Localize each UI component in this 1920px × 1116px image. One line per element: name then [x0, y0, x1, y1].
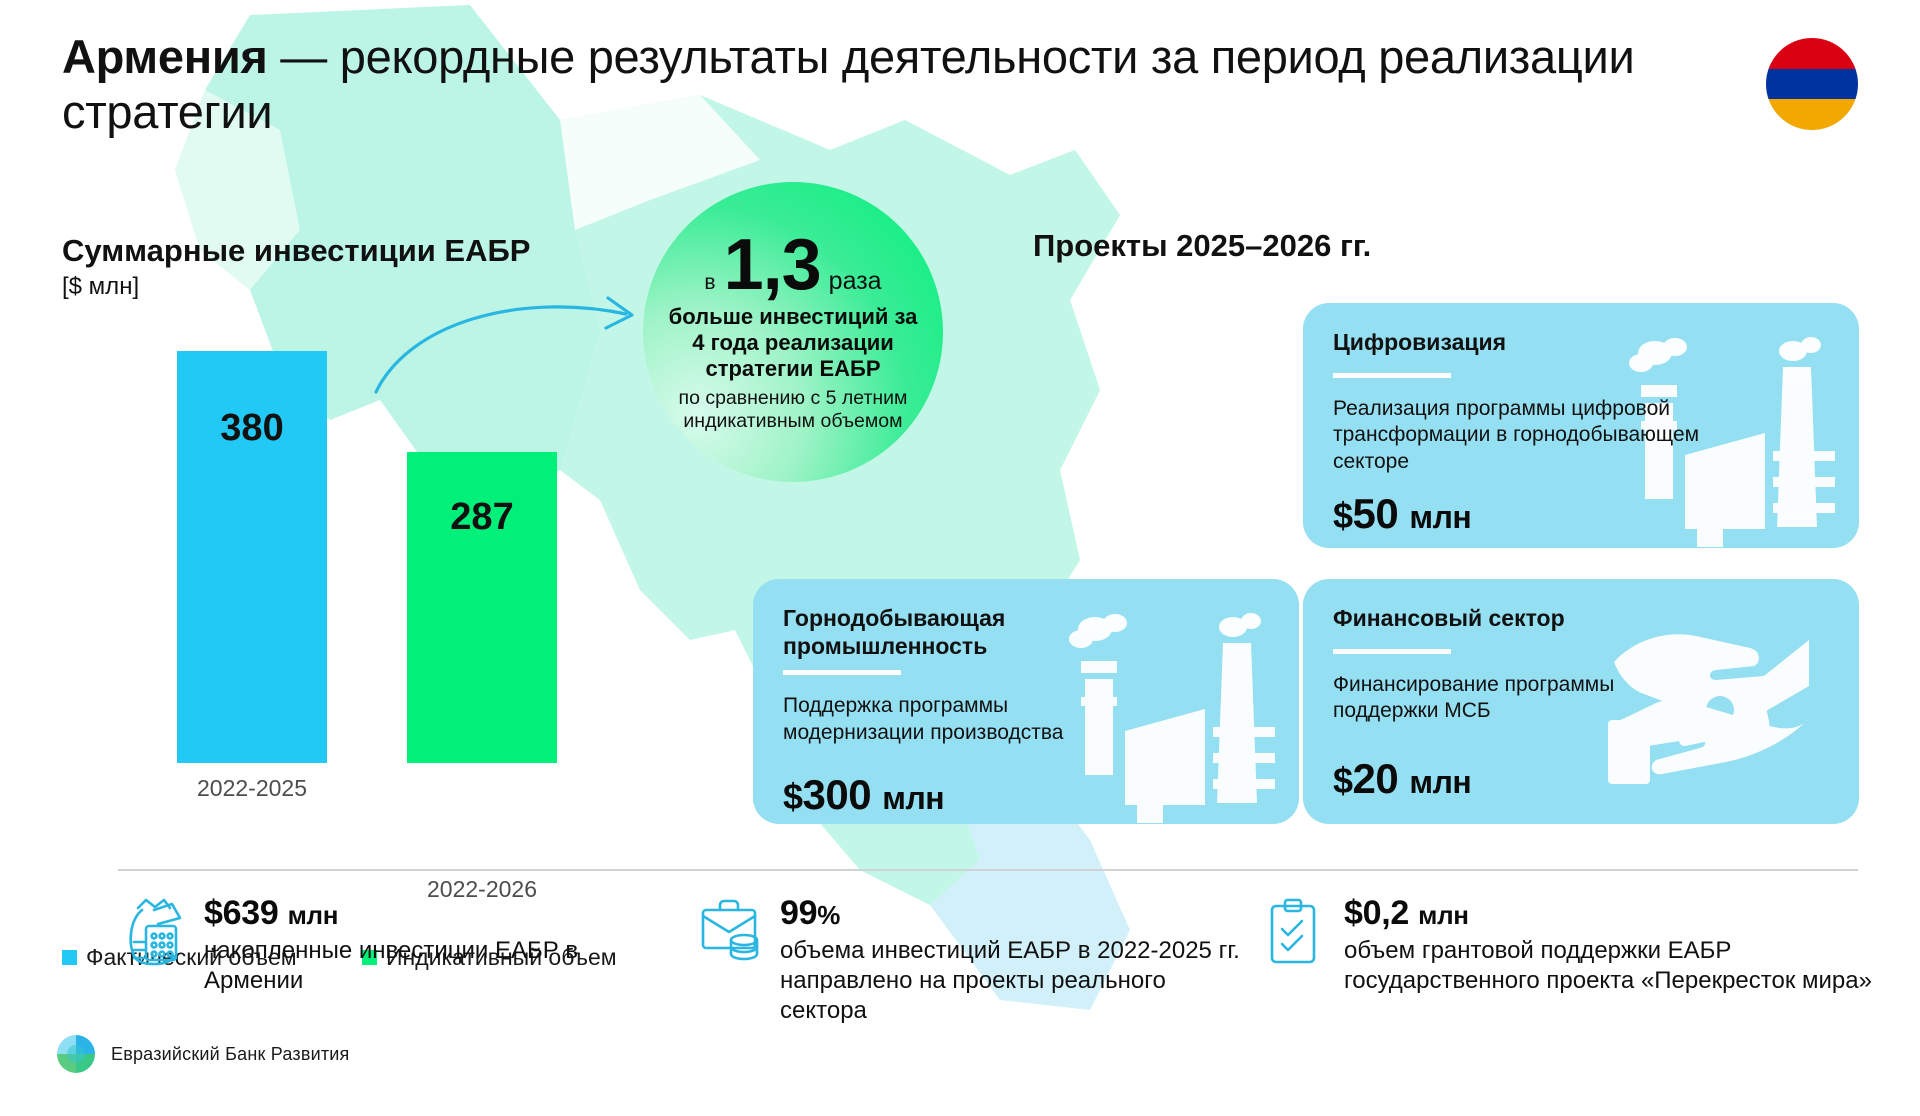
- callout-sub-text: по сравнению с 5 летним индикативным объ…: [679, 387, 908, 433]
- card-value-digitalization: 50: [1353, 490, 1399, 537]
- stat-body: $0,2 млн объем грантовой поддержки ЕАБР …: [1344, 896, 1884, 996]
- stat-grant-support: $0,2 млн объем грантовой поддержки ЕАБР …: [1264, 896, 1884, 996]
- callout-suffix: раза: [829, 267, 882, 296]
- stat-body: 99% объема инвестиций ЕАБР в 2022-2025 г…: [780, 896, 1240, 1026]
- callout-number: 1,3: [724, 231, 821, 299]
- page-header: Армения — рекордные результаты деятельно…: [62, 30, 1702, 140]
- card-title-financial: Финансовый сектор: [1333, 605, 1829, 633]
- flag-stripe-red: [1766, 38, 1858, 69]
- card-currency-mining: $: [783, 776, 803, 817]
- stat-value-share: 99%: [780, 896, 1240, 932]
- bar-2022-2025: 380 2022-2025: [177, 351, 327, 763]
- callout-bold-line-1: больше инвестиций за: [669, 304, 918, 330]
- money-bag-icon: [124, 896, 186, 968]
- armenia-flag-icon: [1766, 38, 1858, 130]
- card-value-mining: 300: [803, 771, 872, 818]
- card-amount-digitalization: $50 млн: [1333, 490, 1829, 538]
- bar-category-actual: 2022-2025: [157, 775, 347, 802]
- card-currency-digitalization: $: [1333, 495, 1353, 536]
- stat-text-share: объема инвестиций ЕАБР в 2022-2025 гг. н…: [780, 936, 1240, 1027]
- briefcase-coins-icon: [700, 896, 762, 968]
- card-rule: [1333, 373, 1451, 378]
- callout-sub-line-1: по сравнению с 5 летним: [679, 387, 908, 410]
- bar-value-actual: 380: [177, 407, 327, 450]
- page-title: Армения — рекордные результаты деятельно…: [62, 30, 1702, 140]
- stat-value-grant: $0,2 млн: [1344, 896, 1884, 932]
- stat-body: $639 млн накопленные инвестиции ЕАБР в А…: [204, 896, 644, 996]
- stat-text-accumulated: накопленные инвестиции ЕАБР в Армении: [204, 936, 644, 996]
- stat-unit-grant: млн: [1418, 900, 1469, 930]
- chart-title: Суммарные инвестиции ЕАБР: [62, 232, 742, 269]
- card-unit-financial: млн: [1409, 764, 1471, 800]
- callout-circle: в 1,3 раза больше инвестиций за 4 года р…: [643, 182, 943, 482]
- flag-stripe-blue: [1766, 69, 1858, 100]
- card-description-mining: Поддержка программы модернизации произво…: [783, 693, 1113, 747]
- card-unit-digitalization: млн: [1409, 499, 1471, 535]
- project-card-mining[interactable]: Горнодобывающая промышленность Поддержка…: [753, 579, 1299, 824]
- card-value-financial: 20: [1353, 755, 1399, 802]
- eabr-logo-mark-icon: [55, 1033, 97, 1075]
- card-title-digitalization: Цифровизация: [1333, 329, 1829, 357]
- callout-bold-line-2: 4 года реализации: [669, 330, 918, 356]
- card-title-mining: Горнодобывающая промышленность: [783, 605, 1083, 660]
- stat-number-accumulated: $639: [204, 894, 278, 932]
- eabr-logo-text: Евразийский Банк Развития: [111, 1044, 350, 1065]
- page-title-rest: — рекордные результаты деятельности за п…: [62, 30, 1634, 138]
- card-description-digitalization: Реализация программы цифровой трансформа…: [1333, 396, 1753, 477]
- callout-bold-line-3: стратегии ЕАБР: [669, 356, 918, 382]
- card-rule: [1333, 649, 1451, 654]
- card-content-mining: Горнодобывающая промышленность Поддержка…: [753, 579, 1299, 824]
- callout-bold-text: больше инвестиций за 4 года реализации с…: [669, 304, 918, 382]
- stats-divider: [118, 869, 1858, 871]
- stat-unit-accumulated: млн: [288, 900, 339, 930]
- stat-number-share: 99: [780, 894, 817, 932]
- page-title-bold: Армения: [62, 30, 268, 83]
- card-content-digitalization: Цифровизация Реализация программы цифров…: [1303, 303, 1859, 548]
- card-unit-mining: млн: [882, 780, 944, 816]
- callout-prefix: в: [704, 271, 715, 295]
- callout-sub-line-2: индикативным объемом: [679, 410, 908, 433]
- stat-accumulated-investments: $639 млн накопленные инвестиции ЕАБР в А…: [124, 896, 644, 996]
- curved-arrow-icon: [370, 288, 670, 398]
- project-card-financial[interactable]: Финансовый сектор Финансирование програм…: [1303, 579, 1859, 824]
- card-amount-financial: $20 млн: [1333, 755, 1829, 803]
- legend-swatch-actual: [62, 950, 77, 965]
- card-content-financial: Финансовый сектор Финансирование програм…: [1303, 579, 1859, 824]
- projects-heading: Проекты 2025–2026 гг.: [1033, 228, 1371, 264]
- eabr-logo: Евразийский Банк Развития: [55, 1033, 350, 1075]
- stat-text-grant: объем грантовой поддержки ЕАБР государст…: [1344, 936, 1884, 996]
- bar-value-indicative: 287: [407, 496, 557, 539]
- stat-unit-share: %: [817, 900, 840, 930]
- clipboard-check-icon: [1264, 896, 1326, 968]
- flag-stripe-orange: [1766, 99, 1858, 130]
- stat-real-sector-share: 99% объема инвестиций ЕАБР в 2022-2025 г…: [700, 896, 1240, 1026]
- callout-headline: в 1,3 раза: [704, 231, 881, 299]
- card-amount-mining: $300 млн: [783, 771, 1269, 819]
- bar-2022-2026: 287 2022-2026: [407, 452, 557, 763]
- card-rule: [783, 670, 901, 675]
- stat-number-grant: $0,2: [1344, 894, 1409, 932]
- project-card-digitalization[interactable]: Цифровизация Реализация программы цифров…: [1303, 303, 1859, 548]
- card-description-financial: Финансирование программы поддержки МСБ: [1333, 672, 1703, 726]
- stat-value-accumulated: $639 млн: [204, 896, 644, 932]
- infographic-root: Армения — рекордные результаты деятельно…: [0, 0, 1920, 1116]
- card-currency-financial: $: [1333, 760, 1353, 801]
